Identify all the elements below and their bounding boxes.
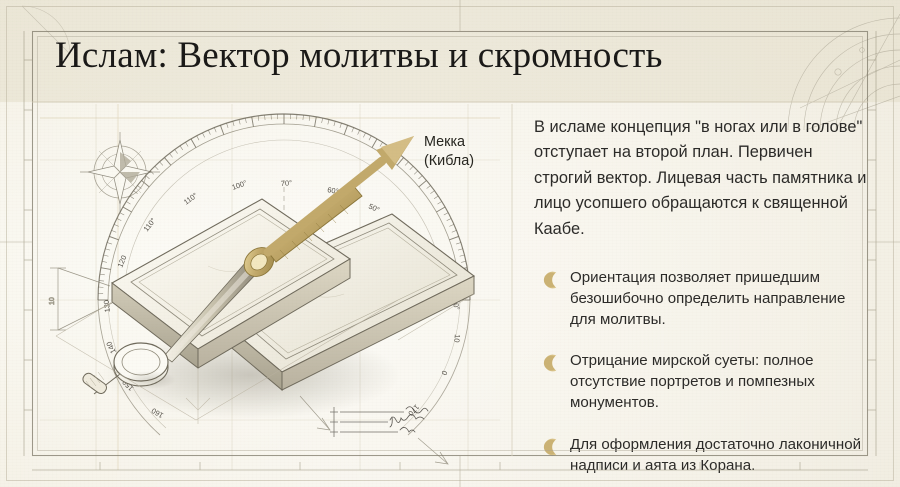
crescent-moon-icon xyxy=(540,352,560,374)
callout-mecca-label: Мекка (Кибла) xyxy=(424,133,474,171)
callout-line-1: Мекка xyxy=(424,133,474,152)
protractor-illustration: 110° 110° 100° 70° 60° 50° 40° 30° 20° 1… xyxy=(98,114,470,435)
svg-text:0: 0 xyxy=(439,369,449,376)
svg-text:140: 140 xyxy=(104,340,118,355)
grave-slab-upper xyxy=(112,199,350,368)
svg-text:10: 10 xyxy=(49,297,56,305)
svg-text:40°: 40° xyxy=(403,227,417,241)
gold-compass-needle xyxy=(146,184,362,372)
svg-text:30°: 30° xyxy=(431,259,445,273)
svg-text:20°: 20° xyxy=(450,298,462,311)
list-item: Ориентация позволяет пришедшим безошибоч… xyxy=(534,268,872,330)
list-item-label: Для оформления достаточно лаконичной над… xyxy=(570,435,872,477)
content-column: В исламе концепция "в ногах или в голове… xyxy=(534,115,872,487)
svg-text:170: 170 xyxy=(406,403,421,418)
svg-text:120: 120 xyxy=(116,254,129,269)
svg-text:50°: 50° xyxy=(367,202,381,215)
svg-text:130: 130 xyxy=(102,300,112,313)
list-item-label: Отрицание мирской суеты: полное отсутств… xyxy=(570,351,872,413)
svg-text:70°: 70° xyxy=(281,178,293,188)
crescent-moon-icon xyxy=(540,436,560,458)
svg-text:110°: 110° xyxy=(182,191,199,207)
svg-text:60°: 60° xyxy=(327,185,340,196)
compass-rose-icon xyxy=(80,132,160,212)
svg-text:150: 150 xyxy=(120,378,135,393)
qibla-arrow-icon xyxy=(268,136,414,252)
svg-text:10: 10 xyxy=(452,334,462,343)
crescent-moon-icon xyxy=(540,269,560,291)
svg-text:100°: 100° xyxy=(231,178,248,192)
callout-line-2: (Кибла) xyxy=(424,152,474,171)
list-item-label: Ориентация позволяет пришедшим безошибоч… xyxy=(570,268,872,330)
dimension-lines: 10 xyxy=(49,268,112,330)
svg-text:160: 160 xyxy=(150,406,165,420)
ruler-left xyxy=(24,31,32,456)
lead-paragraph: В исламе концепция "в ногах или в голове… xyxy=(534,115,872,242)
page-title: Ислам: Вектор молитвы и скромность xyxy=(55,33,663,79)
svg-text:110°: 110° xyxy=(141,216,157,233)
handwritten-annotation xyxy=(330,407,428,437)
grave-slab-lower xyxy=(196,214,474,390)
list-item: Отрицание мирской суеты: полное отсутств… xyxy=(534,351,872,413)
bullet-list: Ориентация позволяет пришедшим безошибоч… xyxy=(534,268,872,476)
protractor-degree-labels: 110° 110° 100° 70° 60° 50° 40° 30° 20° 1… xyxy=(102,178,462,420)
slide-root: 110° 110° 100° 70° 60° 50° 40° 30° 20° 1… xyxy=(0,0,900,487)
list-item: Для оформления достаточно лаконичной над… xyxy=(534,435,872,477)
corner-arcs-decoration xyxy=(788,14,900,130)
magnifying-glass-icon xyxy=(81,343,176,395)
